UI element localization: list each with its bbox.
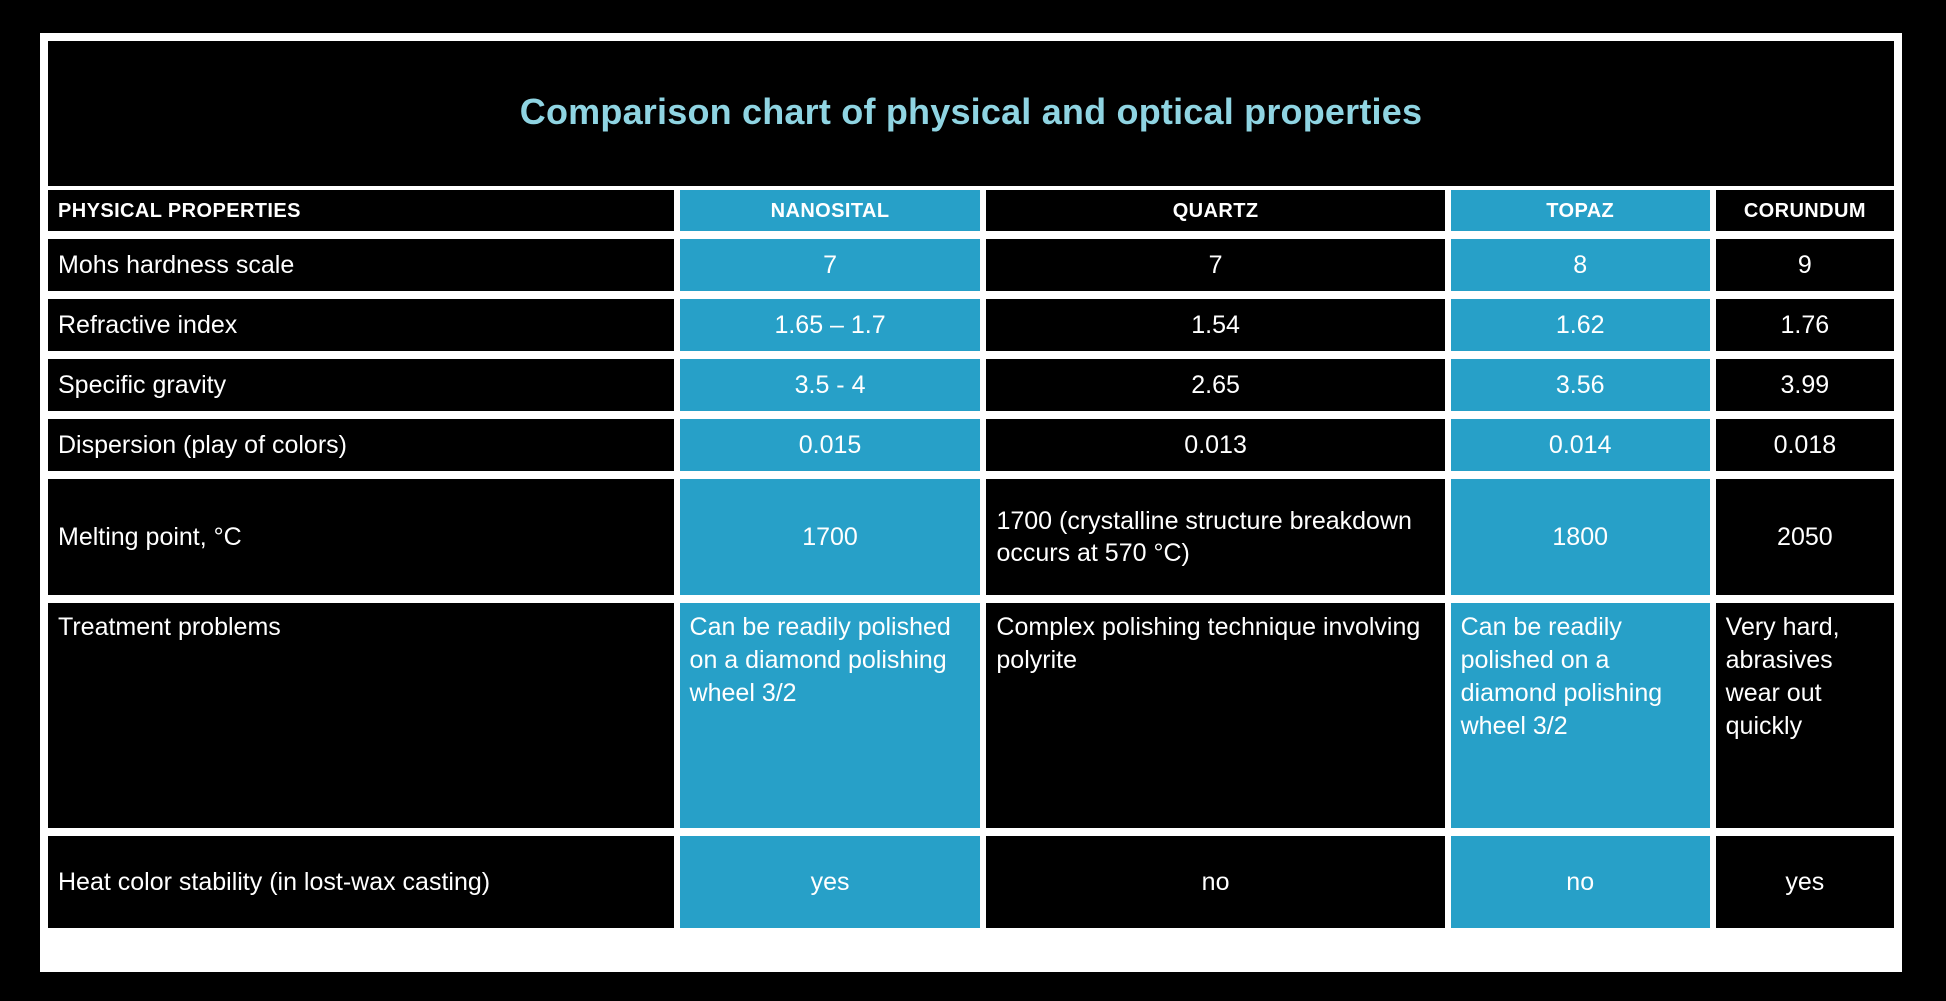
cell-nanosital: yes bbox=[680, 836, 981, 928]
cell-quartz: 1700 (crystalline structure breakdown oc… bbox=[986, 479, 1444, 595]
cell-corundum: 2050 bbox=[1716, 479, 1894, 595]
cell-quartz: Complex polishing technique involving po… bbox=[986, 603, 1444, 828]
table-row: Refractive index 1.65 – 1.7 1.54 1.62 1.… bbox=[48, 295, 1894, 355]
cell-quartz: 1.54 bbox=[986, 299, 1444, 351]
cell-corundum: Very hard, abrasives wear out quickly bbox=[1716, 603, 1894, 828]
column-header-quartz: QUARTZ bbox=[986, 190, 1444, 231]
cell-topaz: 3.56 bbox=[1451, 359, 1710, 411]
cell-quartz: 2.65 bbox=[986, 359, 1444, 411]
cell-topaz: 1.62 bbox=[1451, 299, 1710, 351]
table-row: Heat color stability (in lost-wax castin… bbox=[48, 832, 1894, 932]
cell-nanosital: 3.5 - 4 bbox=[680, 359, 981, 411]
cell-quartz: 0.013 bbox=[986, 419, 1444, 471]
column-header-property: PHYSICAL PROPERTIES bbox=[48, 190, 674, 231]
table-row: Mohs hardness scale 7 7 8 9 bbox=[48, 235, 1894, 295]
cell-corundum: 1.76 bbox=[1716, 299, 1894, 351]
column-header-topaz: TOPAZ bbox=[1451, 190, 1710, 231]
cell-nanosital: 1.65 – 1.7 bbox=[680, 299, 981, 351]
comparison-table: PHYSICAL PROPERTIES NANOSITAL QUARTZ TOP… bbox=[48, 186, 1894, 965]
cell-corundum: 3.99 bbox=[1716, 359, 1894, 411]
cell-nanosital: Can be readily polished on a diamond pol… bbox=[680, 603, 981, 828]
cell-quartz: no bbox=[986, 836, 1444, 928]
cell-nanosital: 1700 bbox=[680, 479, 981, 595]
cell-property: Mohs hardness scale bbox=[48, 239, 674, 291]
cell-property: Heat color stability (in lost-wax castin… bbox=[48, 836, 674, 928]
cell-quartz: 7 bbox=[986, 239, 1444, 291]
cell-topaz: 1800 bbox=[1451, 479, 1710, 595]
cell-property: Refractive index bbox=[48, 299, 674, 351]
table-row: Melting point, °C 1700 1700 (crystalline… bbox=[48, 475, 1894, 599]
cell-corundum: yes bbox=[1716, 836, 1894, 928]
cell-corundum: 9 bbox=[1716, 239, 1894, 291]
slide-canvas: Comparison chart of physical and optical… bbox=[0, 0, 1946, 1001]
cell-property: Specific gravity bbox=[48, 359, 674, 411]
table-row: Specific gravity 3.5 - 4 2.65 3.56 3.99 bbox=[48, 355, 1894, 415]
cell-property: Treatment problems bbox=[48, 603, 674, 828]
column-header-corundum: CORUNDUM bbox=[1716, 190, 1894, 231]
cell-topaz: 8 bbox=[1451, 239, 1710, 291]
cell-nanosital: 7 bbox=[680, 239, 981, 291]
cell-topaz: 0.014 bbox=[1451, 419, 1710, 471]
page-title: Comparison chart of physical and optical… bbox=[520, 91, 1422, 133]
table-header-row: PHYSICAL PROPERTIES NANOSITAL QUARTZ TOP… bbox=[48, 186, 1894, 235]
table-row: Dispersion (play of colors) 0.015 0.013 … bbox=[48, 415, 1894, 475]
column-header-nanosital: NANOSITAL bbox=[680, 190, 981, 231]
title-band: Comparison chart of physical and optical… bbox=[48, 41, 1894, 183]
cell-topaz: no bbox=[1451, 836, 1710, 928]
cell-property: Dispersion (play of colors) bbox=[48, 419, 674, 471]
table-row: Treatment problems Can be readily polish… bbox=[48, 599, 1894, 832]
cell-topaz: Can be readily polished on a diamond pol… bbox=[1451, 603, 1710, 828]
cell-property: Melting point, °C bbox=[48, 479, 674, 595]
cell-corundum: 0.018 bbox=[1716, 419, 1894, 471]
cell-nanosital: 0.015 bbox=[680, 419, 981, 471]
